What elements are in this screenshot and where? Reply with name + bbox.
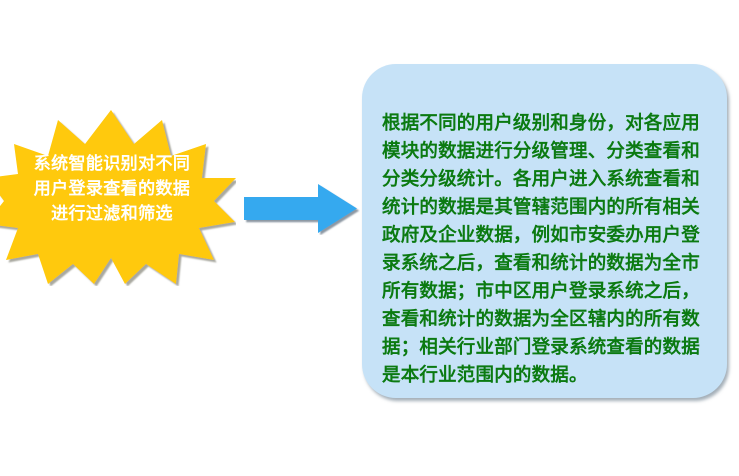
explosion-star-shape — [0, 108, 236, 286]
desc-line-1: 根据不同的用户级别和身份，对各应用 — [382, 110, 712, 138]
desc-line-6: 录系统之后，查看和统计的数据为全市 — [382, 250, 712, 278]
desc-line-2: 模块的数据进行分级管理、分类查看和 — [382, 138, 712, 166]
desc-line-4: 统计的数据是其管辖范围内的所有相关 — [382, 194, 712, 222]
flow-arrow[interactable] — [242, 183, 360, 235]
description-textbox[interactable]: 根据不同的用户级别和身份，对各应用 模块的数据进行分级管理、分类查看和 分类分级… — [362, 64, 727, 398]
description-text: 根据不同的用户级别和身份，对各应用 模块的数据进行分级管理、分类查看和 分类分级… — [382, 110, 712, 390]
right-block-arrow-icon — [242, 183, 360, 235]
desc-line-7: 所有数据；市中区用户登录系统之后， — [382, 278, 712, 306]
star-callout[interactable]: 系统智能识别对不同 用户登录查看的数据 进行过滤和筛选 — [0, 108, 236, 286]
desc-line-10: 是本行业范围内的数据。 — [382, 362, 712, 390]
desc-line-5: 政府及企业数据，例如市安委办用户登 — [382, 222, 712, 250]
desc-line-9: 据；相关行业部门登录系统查看的数据 — [382, 334, 712, 362]
desc-line-3: 分类分级统计。各用户进入系统查看和 — [382, 166, 712, 194]
diagram-canvas: 系统智能识别对不同 用户登录查看的数据 进行过滤和筛选 根据不同的用户级别和身份… — [0, 0, 739, 476]
desc-line-8: 查看和统计的数据为全区辖内的所有数 — [382, 306, 712, 334]
